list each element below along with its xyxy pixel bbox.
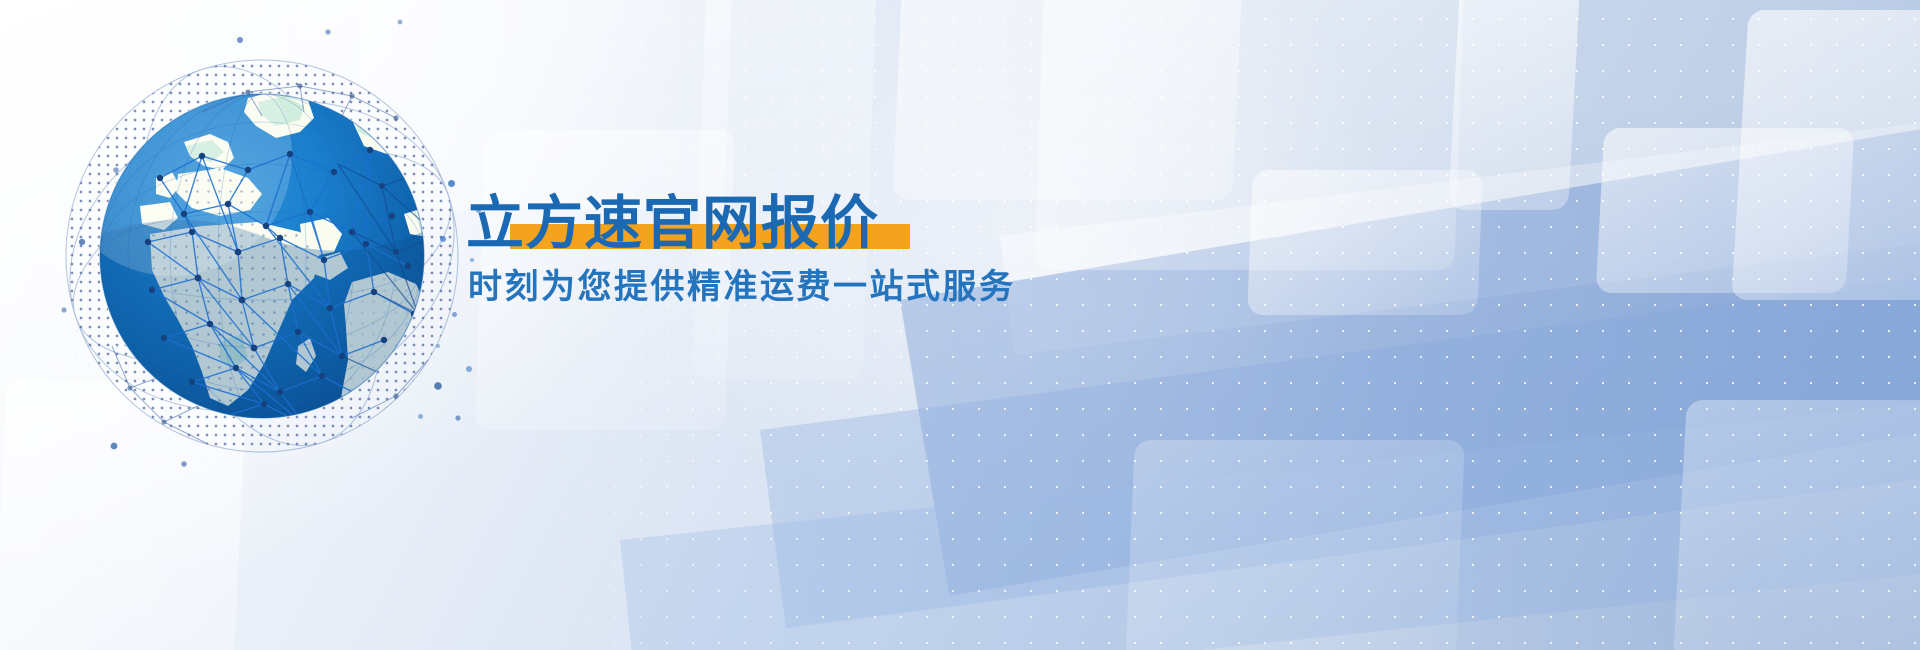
- decor-speck: [440, 236, 446, 242]
- background-dot-grid: [520, 0, 1920, 650]
- decor-speck: [466, 366, 472, 372]
- decor-speck: [418, 414, 423, 419]
- decor-speck: [436, 344, 440, 348]
- page-title: 立方速官网报价: [466, 194, 879, 255]
- banner-text-block: 立方速官网报价 时刻为您提供精准运费一站式服务: [466, 194, 1016, 306]
- hero-banner: 立方速官网报价 时刻为您提供精准运费一站式服务: [0, 0, 1920, 650]
- globe-network-graphic: [52, 46, 472, 466]
- decor-speck: [452, 312, 457, 317]
- page-subtitle: 时刻为您提供精准运费一站式服务: [468, 269, 1016, 306]
- decor-speck: [448, 180, 455, 187]
- title-row: 立方速官网报价: [466, 194, 879, 255]
